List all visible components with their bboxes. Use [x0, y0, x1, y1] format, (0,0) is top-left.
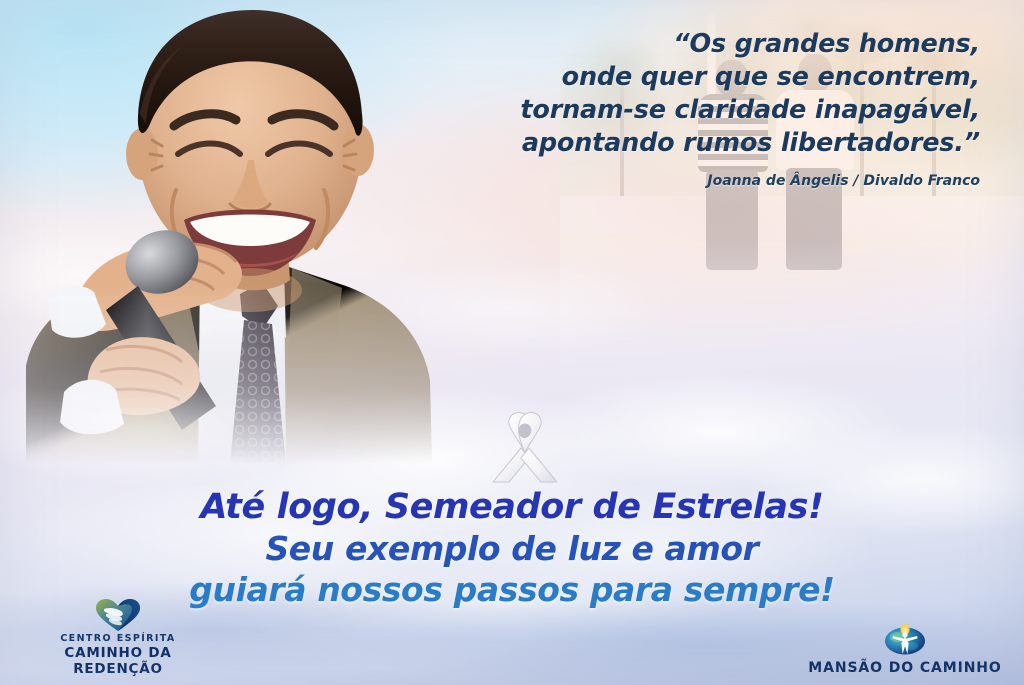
quote-line-2: onde quer que se encontrem,	[340, 61, 980, 94]
headline-block: Até logo, Semeador de Estrelas! Seu exem…	[0, 486, 1024, 610]
headline-line-2: Seu exemplo de luz e amor	[0, 528, 1024, 569]
quote-line-4: apontando rumos libertadores.”	[340, 127, 980, 160]
quote-block: “Os grandes homens, onde quer que se enc…	[340, 28, 980, 189]
white-ribbon-icon	[487, 408, 563, 488]
logo-right-line-1: MANSÃO DO CAMINHO	[800, 660, 1010, 677]
logo-mansao-do-caminho: MANSÃO DO CAMINHO	[800, 622, 1010, 677]
quote-line-1: “Os grandes homens,	[340, 28, 980, 61]
hands-heart-icon	[18, 598, 218, 632]
logo-left-line-2: CAMINHO DA REDENÇÃO	[18, 645, 218, 677]
tribute-poster: “Os grandes homens, onde quer que se enc…	[0, 0, 1024, 685]
quote-author: Joanna de Ângelis / Divaldo Franco	[340, 173, 980, 189]
logo-left-line-1: CENTRO ESPÍRITA	[18, 632, 218, 645]
quote-line-3: tornam-se claridade inapagável,	[340, 94, 980, 127]
headline-line-1: Até logo, Semeador de Estrelas!	[0, 486, 1024, 528]
logo-centro-espirita-caminho-da-redencao: CENTRO ESPÍRITA CAMINHO DA REDENÇÃO	[18, 598, 218, 677]
globe-figure-torch-icon	[800, 622, 1010, 656]
